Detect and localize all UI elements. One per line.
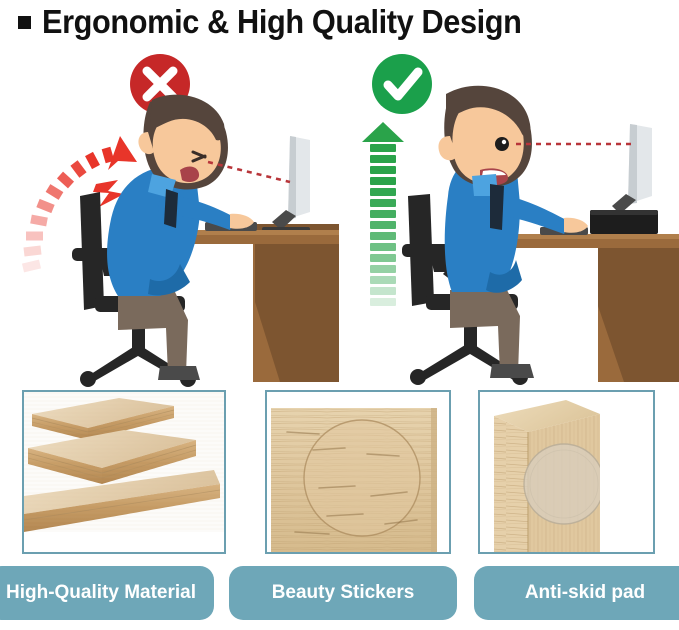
wood-grain-sticker-photo xyxy=(265,390,451,554)
monitor-icon xyxy=(612,124,652,214)
infographic-page: Ergonomic & High Quality Design xyxy=(0,0,679,630)
open-eye-icon xyxy=(495,137,509,151)
plywood-boards-photo xyxy=(22,390,226,554)
person-legs xyxy=(450,288,534,378)
square-bullet-icon xyxy=(18,16,31,29)
feature-pill-label: Beauty Stickers xyxy=(272,582,415,604)
product-photo-row xyxy=(0,390,679,556)
feature-pill-high-quality-material[interactable]: High-Quality Material xyxy=(0,566,214,620)
monitor-riser-stand-icon xyxy=(590,210,658,234)
pain-arrow-head-icon xyxy=(108,136,137,170)
green-up-arrow-icon xyxy=(362,122,404,306)
anti-skid-pad-photo xyxy=(478,390,655,554)
illustration-area xyxy=(0,44,679,388)
open-mouth-icon xyxy=(180,167,199,182)
bad-posture-scene xyxy=(0,44,339,388)
feature-pill-beauty-stickers[interactable]: Beauty Stickers xyxy=(229,566,457,620)
green-check-circle-icon xyxy=(372,54,432,114)
monitor-icon xyxy=(262,136,310,234)
page-title-row: Ergonomic & High Quality Design xyxy=(0,0,679,44)
good-posture-scene xyxy=(340,44,679,388)
feature-pill-anti-skid-pad[interactable]: Anti-skid pad xyxy=(474,566,679,620)
feature-pill-label: Anti-skid pad xyxy=(525,582,645,604)
feature-pill-label: High-Quality Material xyxy=(6,582,196,604)
feature-label-row: High-Quality Material Beauty Stickers An… xyxy=(0,566,679,624)
person-head-good xyxy=(438,86,531,187)
page-title: Ergonomic & High Quality Design xyxy=(42,3,522,41)
